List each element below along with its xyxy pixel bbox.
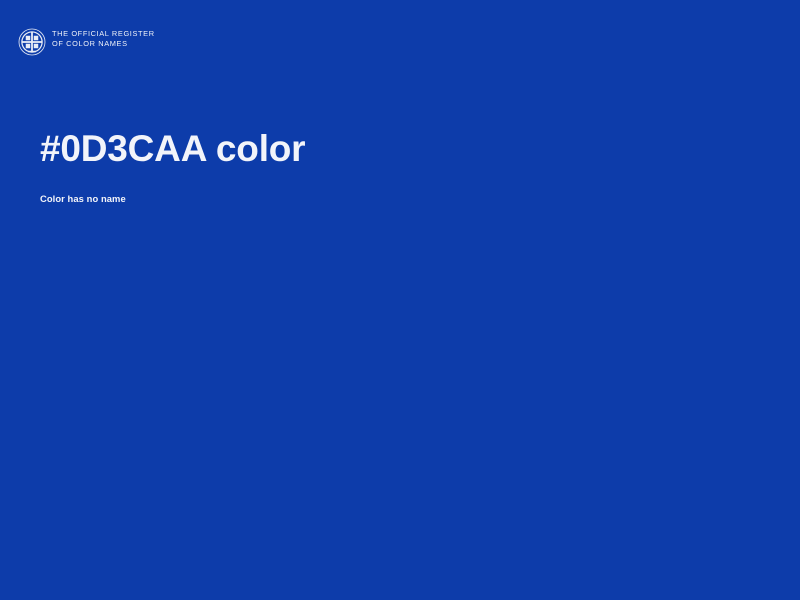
brand-wordmark: THE OFFICIAL REGISTER OF COLOR NAMES bbox=[52, 28, 155, 49]
color-page: { "theme": { "background_color": "#0D3CA… bbox=[0, 0, 800, 600]
brand-line-primary: THE OFFICIAL REGISTER bbox=[52, 29, 155, 39]
color-name-status: Color has no name bbox=[40, 192, 740, 205]
hero-section: #0D3CAA color Color has no name bbox=[40, 126, 740, 205]
masthead-brand-lockup[interactable]: THE OFFICIAL REGISTER OF COLOR NAMES bbox=[18, 28, 155, 56]
register-seal-icon bbox=[18, 28, 46, 56]
brand-line-secondary: OF COLOR NAMES bbox=[52, 39, 155, 49]
page-title: #0D3CAA color bbox=[40, 126, 740, 172]
